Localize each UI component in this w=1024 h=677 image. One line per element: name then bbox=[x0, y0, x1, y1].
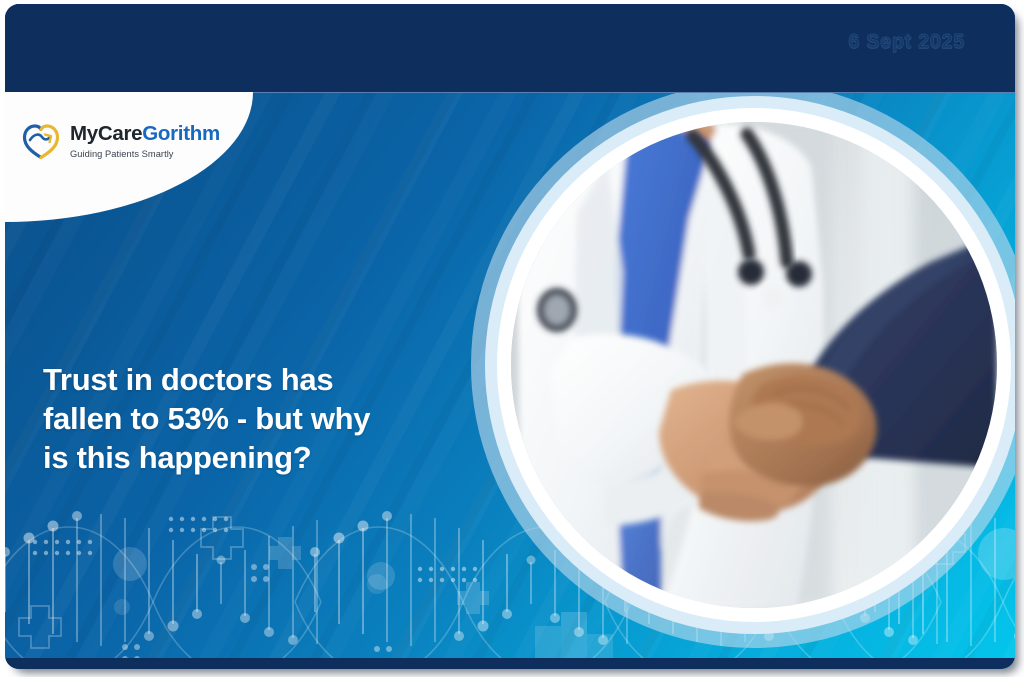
top-navy-bar: 6 Sept 2025 bbox=[5, 4, 1015, 93]
slide-canvas: 6 Sept 2025 MyCareGorithm Guiding Patien… bbox=[0, 0, 1024, 677]
headline-line-2: fallen to 53% - but why bbox=[43, 399, 463, 438]
brand-wordmark-part1: MyCare bbox=[70, 122, 142, 145]
doctor-handshake-photo bbox=[511, 122, 997, 608]
headline: Trust in doctors has fallen to 53% - but… bbox=[43, 360, 463, 477]
headline-line-1: Trust in doctors has bbox=[43, 360, 463, 399]
slide-date: 6 Sept 2025 bbox=[848, 31, 965, 54]
bottom-navy-strip bbox=[5, 658, 1015, 669]
slide-card: 6 Sept 2025 MyCareGorithm Guiding Patien… bbox=[5, 4, 1015, 669]
brand-wordmark-part2: Gorithm bbox=[142, 122, 220, 145]
brand-logo[interactable]: MyCareGorithm Guiding Patients Smartly bbox=[21, 122, 220, 160]
brand-wordmark: MyCareGorithm bbox=[70, 124, 220, 145]
brand-tagline: Guiding Patients Smartly bbox=[70, 150, 220, 159]
heart-monitor-mark-icon bbox=[21, 122, 61, 160]
headline-line-3: is this happening? bbox=[43, 438, 463, 477]
